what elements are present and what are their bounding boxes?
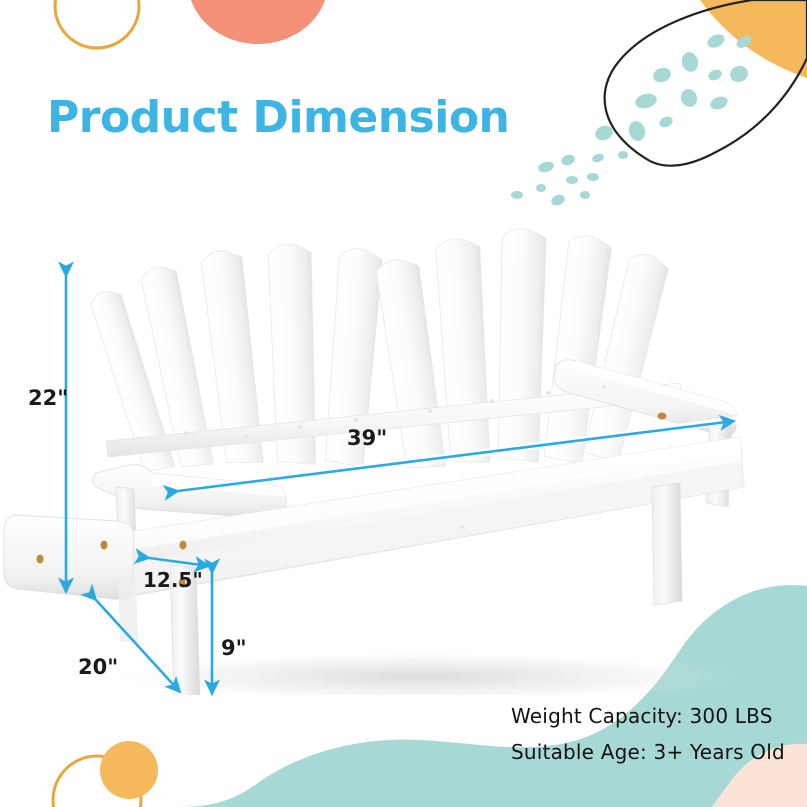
dim-line-seat-depth [149,558,209,566]
spec-suitable-age: Suitable Age: 3+ Years Old [511,740,785,764]
page-title: Product Dimension [47,92,509,143]
dimension-label-depth: 20" [78,655,118,679]
dimension-label-seat-depth: 12.5" [143,568,203,592]
dimension-label-height: 22" [28,386,68,410]
dimension-label-seat-height: 9" [221,636,247,660]
product-dimension-infographic: Product Dimension [0,0,807,807]
spec-weight-capacity: Weight Capacity: 300 LBS [511,704,785,728]
specification-list: Weight Capacity: 300 LBS Suitable Age: 3… [511,704,785,776]
dim-line-width [178,421,734,491]
dimension-label-width: 39" [347,426,387,450]
